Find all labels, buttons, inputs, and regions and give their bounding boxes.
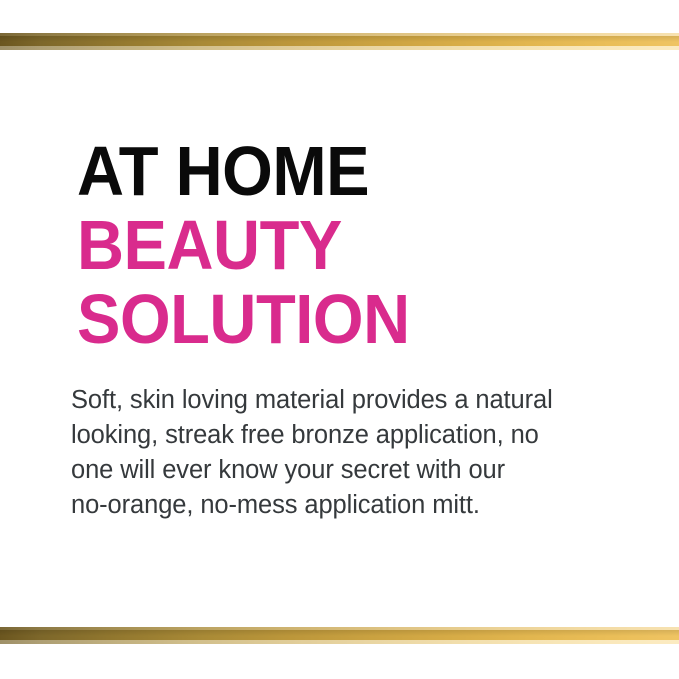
description-line-3: one will ever know your secret with our: [71, 453, 611, 488]
gold-highlight-bottom: [0, 640, 679, 644]
description-line-4: no-orange, no-mess application mitt.: [71, 488, 611, 523]
gold-highlight-bottom: [0, 46, 679, 50]
gold-highlight-top: [0, 33, 679, 36]
gold-shade-overlay: [0, 36, 679, 42]
top-gold-divider: [0, 33, 679, 50]
gold-highlight-top: [0, 627, 679, 630]
gold-shade-overlay: [0, 630, 679, 636]
description-block: Soft, skin loving material provides a na…: [71, 383, 611, 523]
headline-line-1: AT HOME: [77, 134, 579, 208]
description-line-1: Soft, skin loving material provides a na…: [71, 383, 611, 418]
headline-line-3: SOLUTION: [77, 282, 579, 356]
description-line-2: looking, streak free bronze application,…: [71, 418, 611, 453]
bottom-gold-divider: [0, 627, 679, 644]
promo-banner: AT HOME BEAUTY SOLUTION Soft, skin lovin…: [0, 0, 679, 679]
headline-line-2: BEAUTY: [77, 208, 579, 282]
headline-block: AT HOME BEAUTY SOLUTION: [77, 134, 617, 356]
